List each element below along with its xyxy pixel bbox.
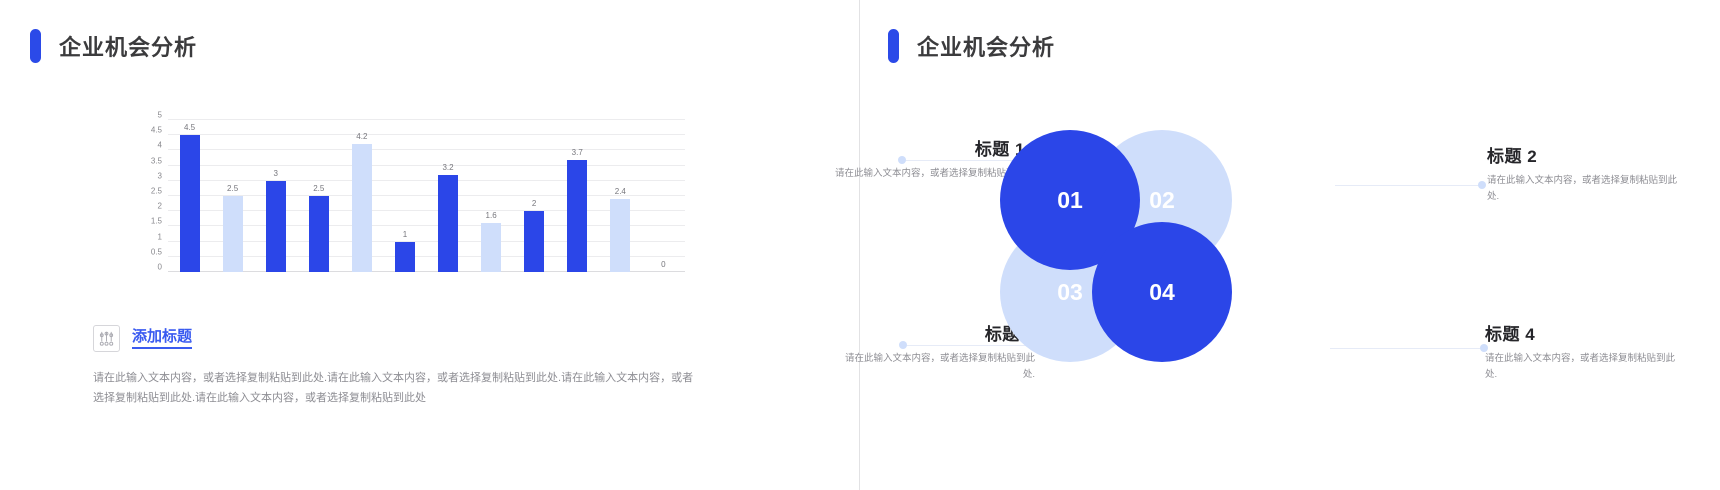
page-title-text-right: 企业机会分析: [917, 30, 1055, 62]
chart-bar: 3.2: [438, 175, 458, 272]
page-title-text: 企业机会分析: [59, 30, 197, 62]
callout-desc-1: 请在此输入文本内容，或者选择复制粘贴到此处.: [835, 166, 1025, 197]
chart-bar: 3.7: [567, 160, 587, 272]
chart-bar-value: 3.2: [442, 163, 453, 172]
callout-1: 标题 1 请在此输入文本内容，或者选择复制粘贴到此处.: [835, 135, 1025, 197]
chart-bar-slot: 0: [642, 120, 685, 272]
venn-label-02: 02: [1149, 187, 1175, 214]
slide-right: 企业机会分析: [860, 0, 1720, 490]
leader-line-2: [1335, 185, 1485, 186]
venn-label-03: 03: [1057, 279, 1083, 306]
callout-desc-2: 请在此输入文本内容，或者选择复制粘贴到此处.: [1487, 173, 1677, 204]
chart-bar-value: 4.5: [184, 123, 195, 132]
callout-title-4: 标题 4: [1485, 320, 1675, 345]
chart-bar-value: 2: [532, 199, 536, 208]
chart-bar-slot: 1: [383, 120, 426, 272]
chart-plot-area: 00.511.522.533.544.55 4.52.532.54.213.21…: [168, 120, 685, 272]
chart-bar-slot: 3.7: [556, 120, 599, 272]
venn-label-01: 01: [1057, 187, 1083, 214]
callout-desc-4: 请在此输入文本内容，或者选择复制粘贴到此处.: [1485, 351, 1675, 382]
chart-bar: 2.5: [223, 196, 243, 272]
chart-bar-slot: 2.5: [297, 120, 340, 272]
chart-bar-slot: 2: [513, 120, 556, 272]
chart-bars: 4.52.532.54.213.21.623.72.40: [168, 120, 685, 272]
chart-bar-value: 4.2: [356, 132, 367, 141]
chart-bar-value: 3.7: [572, 148, 583, 157]
chart-y-tick: 1: [158, 232, 162, 241]
chart-y-tick: 3.5: [151, 156, 162, 165]
chart-y-tick: 0: [158, 263, 162, 272]
caption-header: 添加标题: [93, 325, 713, 352]
callout-2: 标题 2 请在此输入文本内容，或者选择复制粘贴到此处.: [1487, 142, 1677, 204]
callout-desc-3: 请在此输入文本内容，或者选择复制粘贴到此处.: [845, 351, 1035, 382]
slide-deck: 企业机会分析 00.511.522.533.544.55 4.52.532.54…: [0, 0, 1720, 490]
chart-bar-slot: 3.2: [426, 120, 469, 272]
chart-bar: 1: [395, 242, 415, 272]
page-title-right: 企业机会分析: [888, 29, 1055, 63]
chart-bar-value: 2.5: [313, 184, 324, 193]
chart-bar: 4.2: [352, 144, 372, 272]
chart-y-tick: 0.5: [151, 247, 162, 256]
chart-bar-slot: 2.5: [211, 120, 254, 272]
caption-block: 添加标题 请在此输入文本内容，或者选择复制粘贴到此处.请在此输入文本内容，或者选…: [93, 325, 713, 409]
chart-bar: 2: [524, 211, 544, 272]
chart-bar-slot: 1.6: [470, 120, 513, 272]
chart-bar-value: 1: [403, 230, 407, 239]
title-accent-bar: [30, 29, 41, 63]
chart-bar-slot: 3: [254, 120, 297, 272]
chart-bar-value: 2.5: [227, 184, 238, 193]
chart-y-tick: 4.5: [151, 126, 162, 135]
chart-bar-slot: 2.4: [599, 120, 642, 272]
chart-bar-value: 3: [273, 169, 277, 178]
chart-bar-slot: 4.5: [168, 120, 211, 272]
chart-bar: 4.5: [180, 135, 200, 272]
bar-chart: 00.511.522.533.544.55 4.52.532.54.213.21…: [140, 120, 685, 288]
callout-3: 标题 3 请在此输入文本内容，或者选择复制粘贴到此处.: [845, 320, 1035, 382]
sliders-icon: [93, 325, 120, 352]
chart-bar: 2.4: [610, 199, 630, 272]
chart-y-tick: 3: [158, 171, 162, 180]
chart-bar-value: 0: [661, 260, 665, 269]
leader-dot-2: [1478, 181, 1486, 189]
callout-title-3: 标题 3: [845, 320, 1035, 345]
venn-circle-04[interactable]: 04: [1092, 222, 1232, 362]
chart-bar: 3: [266, 181, 286, 272]
chart-y-tick: 5: [158, 111, 162, 120]
callout-title-2: 标题 2: [1487, 142, 1677, 167]
chart-bar-value: 2.4: [615, 187, 626, 196]
title-accent-bar-right: [888, 29, 899, 63]
callout-title-1: 标题 1: [835, 135, 1025, 160]
venn-label-04: 04: [1149, 279, 1175, 306]
chart-y-tick: 2: [158, 202, 162, 211]
chart-bar-value: 1.6: [486, 211, 497, 220]
callout-4: 标题 4 请在此输入文本内容，或者选择复制粘贴到此处.: [1485, 320, 1675, 382]
caption-body: 请在此输入文本内容，或者选择复制粘贴到此处.请在此输入文本内容，或者选择复制粘贴…: [93, 368, 703, 409]
caption-title[interactable]: 添加标题: [132, 329, 192, 349]
chart-bar: 2.5: [309, 196, 329, 272]
chart-y-tick: 2.5: [151, 187, 162, 196]
chart-y-tick: 4: [158, 141, 162, 150]
chart-bar-slot: 4.2: [340, 120, 383, 272]
chart-bar: 1.6: [481, 223, 501, 272]
page-title: 企业机会分析: [30, 29, 197, 63]
venn-diagram: 01 02 03 04: [1000, 130, 1240, 370]
slide-left: 企业机会分析 00.511.522.533.544.55 4.52.532.54…: [0, 0, 860, 490]
chart-y-tick: 1.5: [151, 217, 162, 226]
leader-line-4: [1330, 348, 1485, 349]
